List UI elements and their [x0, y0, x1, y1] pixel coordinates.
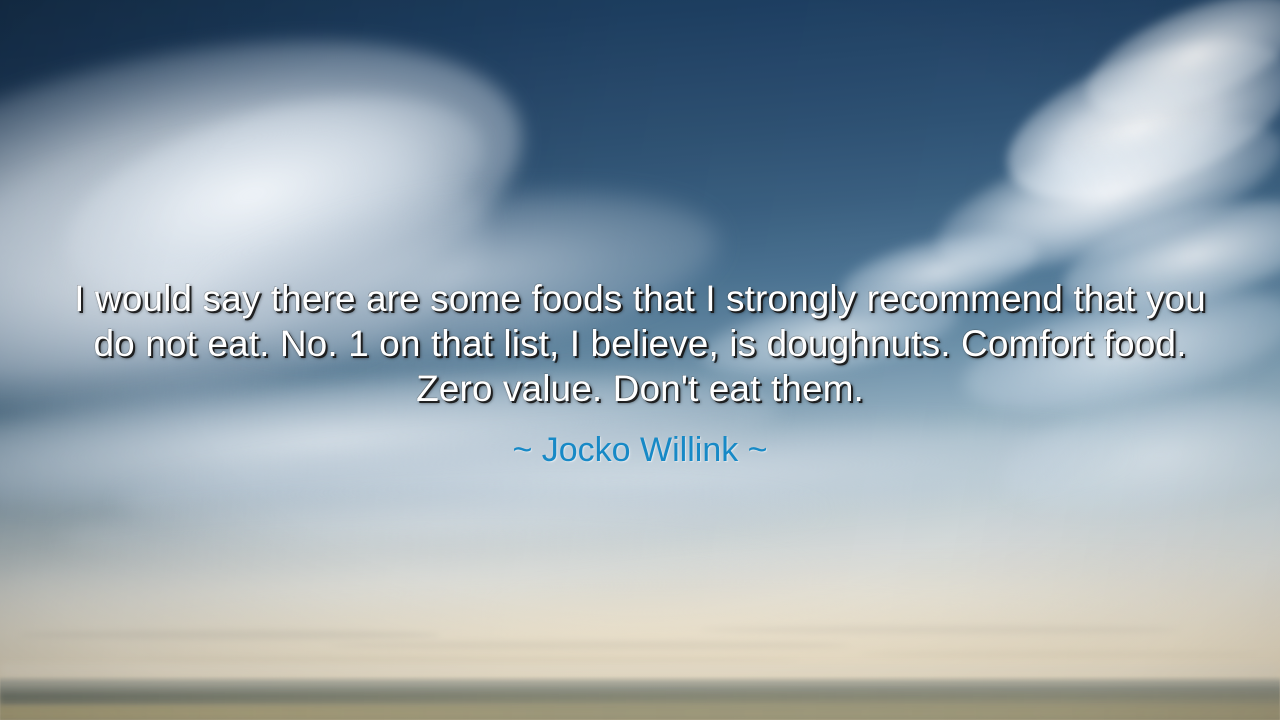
distant-landscape-dark-band: [0, 692, 1280, 704]
quote-text: I would say there are some foods that I …: [52, 276, 1228, 411]
distant-landscape-foreground-strip: [0, 706, 1280, 720]
quote-attribution: ~ Jocko Willink ~: [52, 411, 1228, 471]
quote-image-canvas: I would say there are some foods that I …: [0, 0, 1280, 720]
quote-block: I would say there are some foods that I …: [0, 276, 1280, 471]
